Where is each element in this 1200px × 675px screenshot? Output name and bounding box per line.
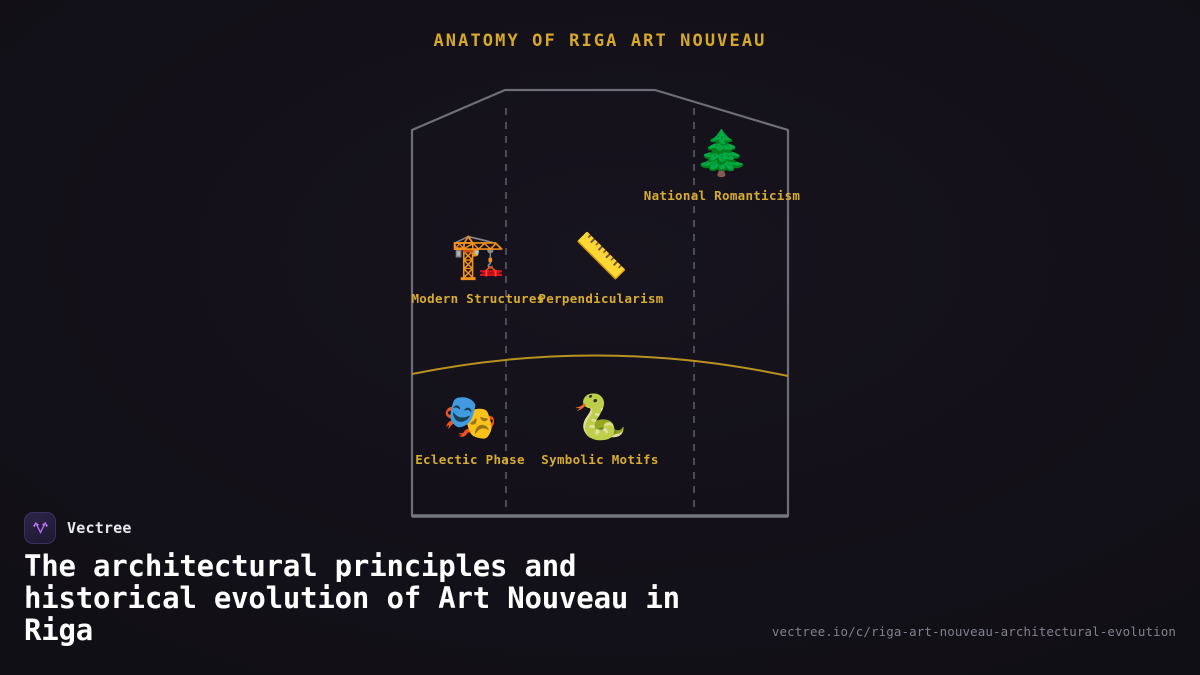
logo-dot-inner-right bbox=[42, 524, 44, 526]
vectree-tree-logo-icon bbox=[24, 512, 56, 544]
headline: The architectural principles and histori… bbox=[24, 550, 744, 646]
logo-dot-inner-left bbox=[37, 524, 39, 526]
site-url: vectree.io/c/riga-art-nouveau-architectu… bbox=[772, 624, 1176, 639]
cornice-arc bbox=[412, 355, 788, 376]
building-outline-svg bbox=[410, 88, 790, 518]
building-diagram: 🌲 National Romanticism 🏗️ Modern Structu… bbox=[410, 88, 790, 518]
brand-name: Vectree bbox=[67, 519, 132, 537]
brand-row[interactable]: Vectree bbox=[24, 512, 132, 544]
logo-dot-right bbox=[45, 524, 47, 526]
logo-dot-left bbox=[33, 524, 35, 526]
building-facade-outline bbox=[412, 90, 788, 516]
slide-canvas: ANATOMY OF RIGA ART NOUVEAU 🌲 National R… bbox=[0, 0, 1200, 675]
page-title: ANATOMY OF RIGA ART NOUVEAU bbox=[0, 31, 1200, 51]
logo-glyph bbox=[31, 519, 50, 538]
